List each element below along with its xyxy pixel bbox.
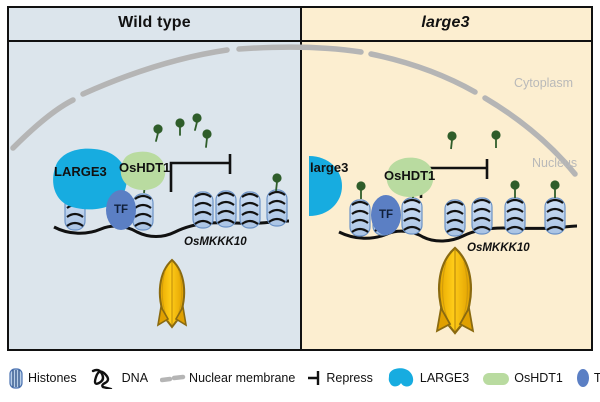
nucleosome	[445, 200, 465, 236]
nucleosome	[350, 200, 370, 236]
legend-label-large3: LARGE3	[420, 372, 469, 385]
gene-label-mut: OsMKKK10	[467, 242, 530, 254]
tf-label-wt: TF	[114, 204, 128, 216]
wild-type-contents	[53, 113, 289, 327]
acetyl-icon	[192, 113, 201, 130]
nucleosome	[402, 198, 422, 234]
nuclear-membrane-icon	[160, 367, 186, 389]
nucleosome	[267, 190, 287, 226]
nucleosome	[193, 192, 213, 228]
oshdt1-blob-icon	[481, 367, 511, 389]
histone-icon	[7, 367, 25, 389]
figure-legend: Histones DNA Nuclear membrane Repress	[7, 358, 593, 398]
legend-item-large3: LARGE3	[385, 367, 469, 389]
repress-icon	[307, 367, 323, 389]
rice-grain-mut	[437, 248, 473, 333]
nucleosome	[505, 198, 525, 234]
acetyl-icon	[447, 131, 456, 149]
nucleosome	[472, 198, 492, 234]
diagram-artwork	[9, 8, 593, 351]
oshdt1-label-wt: OsHDT1	[119, 160, 170, 175]
dna-icon	[89, 367, 119, 389]
legend-label-dna: DNA	[122, 372, 148, 385]
diagram-frame: Wild type large3	[7, 6, 593, 351]
cytoplasm-label: Cytoplasm	[514, 76, 573, 90]
nucleosome	[133, 194, 153, 230]
oshdt1-label-mut: OsHDT1	[384, 168, 435, 183]
tf-oval-icon	[575, 367, 591, 389]
acetyl-icon	[491, 130, 500, 148]
rice-grain-wt	[158, 260, 186, 327]
legend-label-nuclear-membrane: Nuclear membrane	[189, 372, 295, 385]
nucleosome	[240, 192, 260, 228]
nucleus-label: Nucleus	[532, 156, 577, 170]
legend-label-tf: TF	[594, 372, 600, 385]
legend-item-tf: TF	[575, 367, 600, 389]
legend-item-repress: Repress	[307, 367, 373, 389]
acetyl-icon	[202, 129, 211, 147]
free-acetyl-group-mut	[447, 130, 500, 149]
acetyl-icon	[510, 180, 519, 198]
large3-blob-icon	[385, 367, 417, 389]
acetyl-icon	[550, 180, 559, 198]
free-acetyl-group-wt	[153, 113, 211, 147]
large3-label-mut: large3	[310, 160, 348, 175]
acetyl-icon	[356, 181, 365, 199]
legend-item-dna: DNA	[89, 367, 148, 389]
nucleosome	[216, 191, 236, 227]
tf-label-mut: TF	[379, 209, 393, 221]
gene-label-wt: OsMKKK10	[184, 236, 247, 248]
acetyl-icon	[153, 124, 162, 141]
legend-label-oshdt1: OsHDT1	[514, 372, 563, 385]
legend-item-histones: Histones	[7, 367, 77, 389]
legend-item-oshdt1: OsHDT1	[481, 367, 563, 389]
acetyl-icon	[175, 118, 184, 135]
acetyl-icon	[272, 173, 281, 191]
figure-root: Wild type large3	[0, 0, 600, 402]
legend-label-repress: Repress	[326, 372, 373, 385]
nucleosome	[545, 198, 565, 234]
legend-item-nuclear-membrane: Nuclear membrane	[160, 367, 295, 389]
legend-label-histones: Histones	[28, 372, 77, 385]
repress-tbar-wt	[171, 154, 230, 192]
large3-label-wt: LARGE3	[54, 164, 107, 179]
